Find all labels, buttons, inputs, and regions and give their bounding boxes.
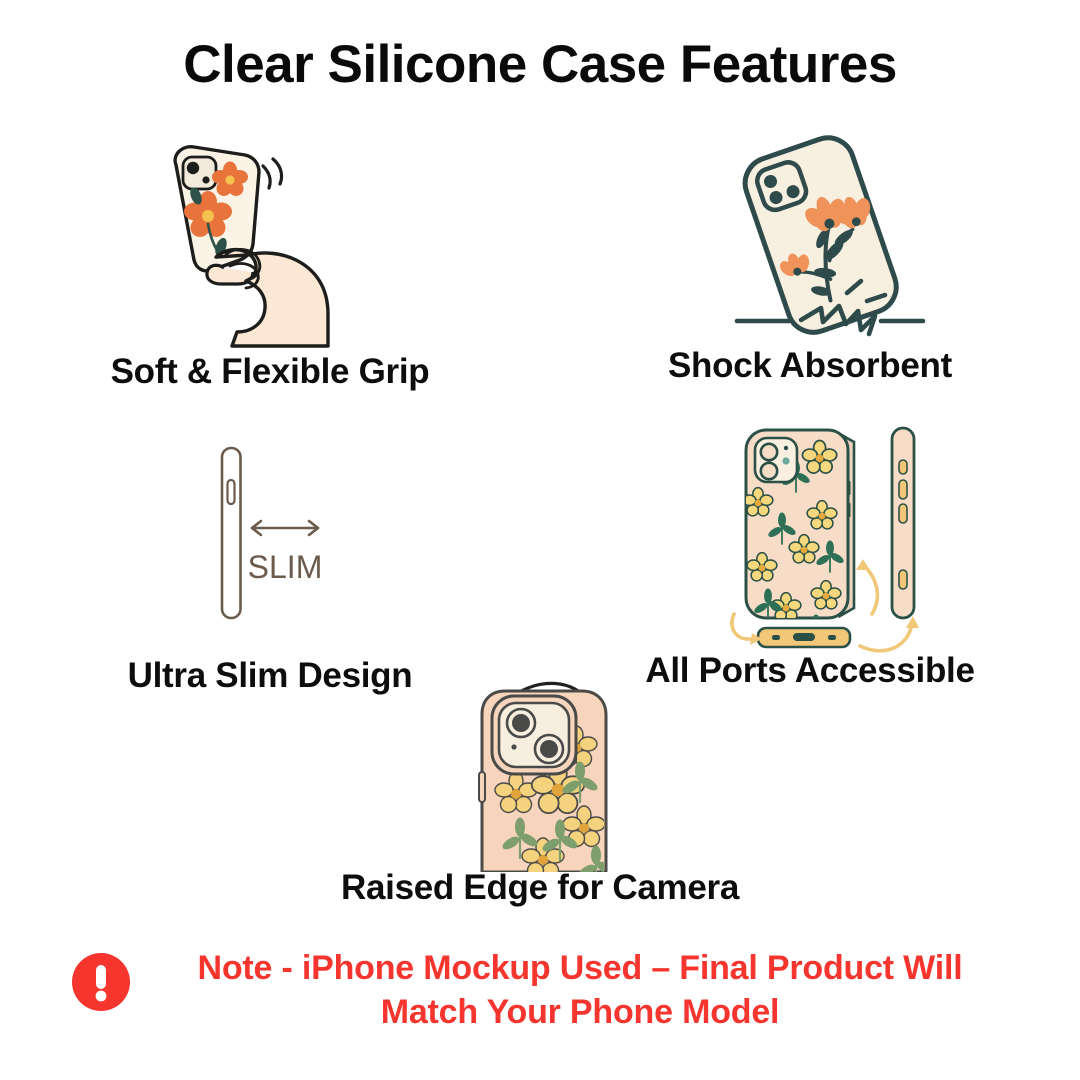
page-title: Clear Silicone Case Features <box>0 34 1080 95</box>
all-ports-accessible-icon <box>700 418 955 663</box>
slim-arrow-label: SLIM <box>248 549 323 585</box>
feature-label-shock-absorbent: Shock Absorbent <box>540 346 1080 386</box>
soft-flexible-grip-icon <box>120 118 390 350</box>
note-banner: Note - iPhone Mockup Used – Final Produc… <box>0 947 1080 1034</box>
feature-label-raised-edge-camera: Raised Edge for Camera <box>0 868 1080 908</box>
note-text: Note - iPhone Mockup Used – Final Produc… <box>150 947 1010 1034</box>
raised-edge-camera-icon <box>448 660 658 872</box>
feature-label-soft-flexible-grip: Soft & Flexible Grip <box>0 352 540 392</box>
exclamation-circle-icon <box>70 951 132 1018</box>
infographic-page: Clear Silicone Case Features <box>0 0 1080 1080</box>
ultra-slim-design-icon: SLIM <box>180 430 390 630</box>
shock-absorbent-icon <box>715 118 950 348</box>
